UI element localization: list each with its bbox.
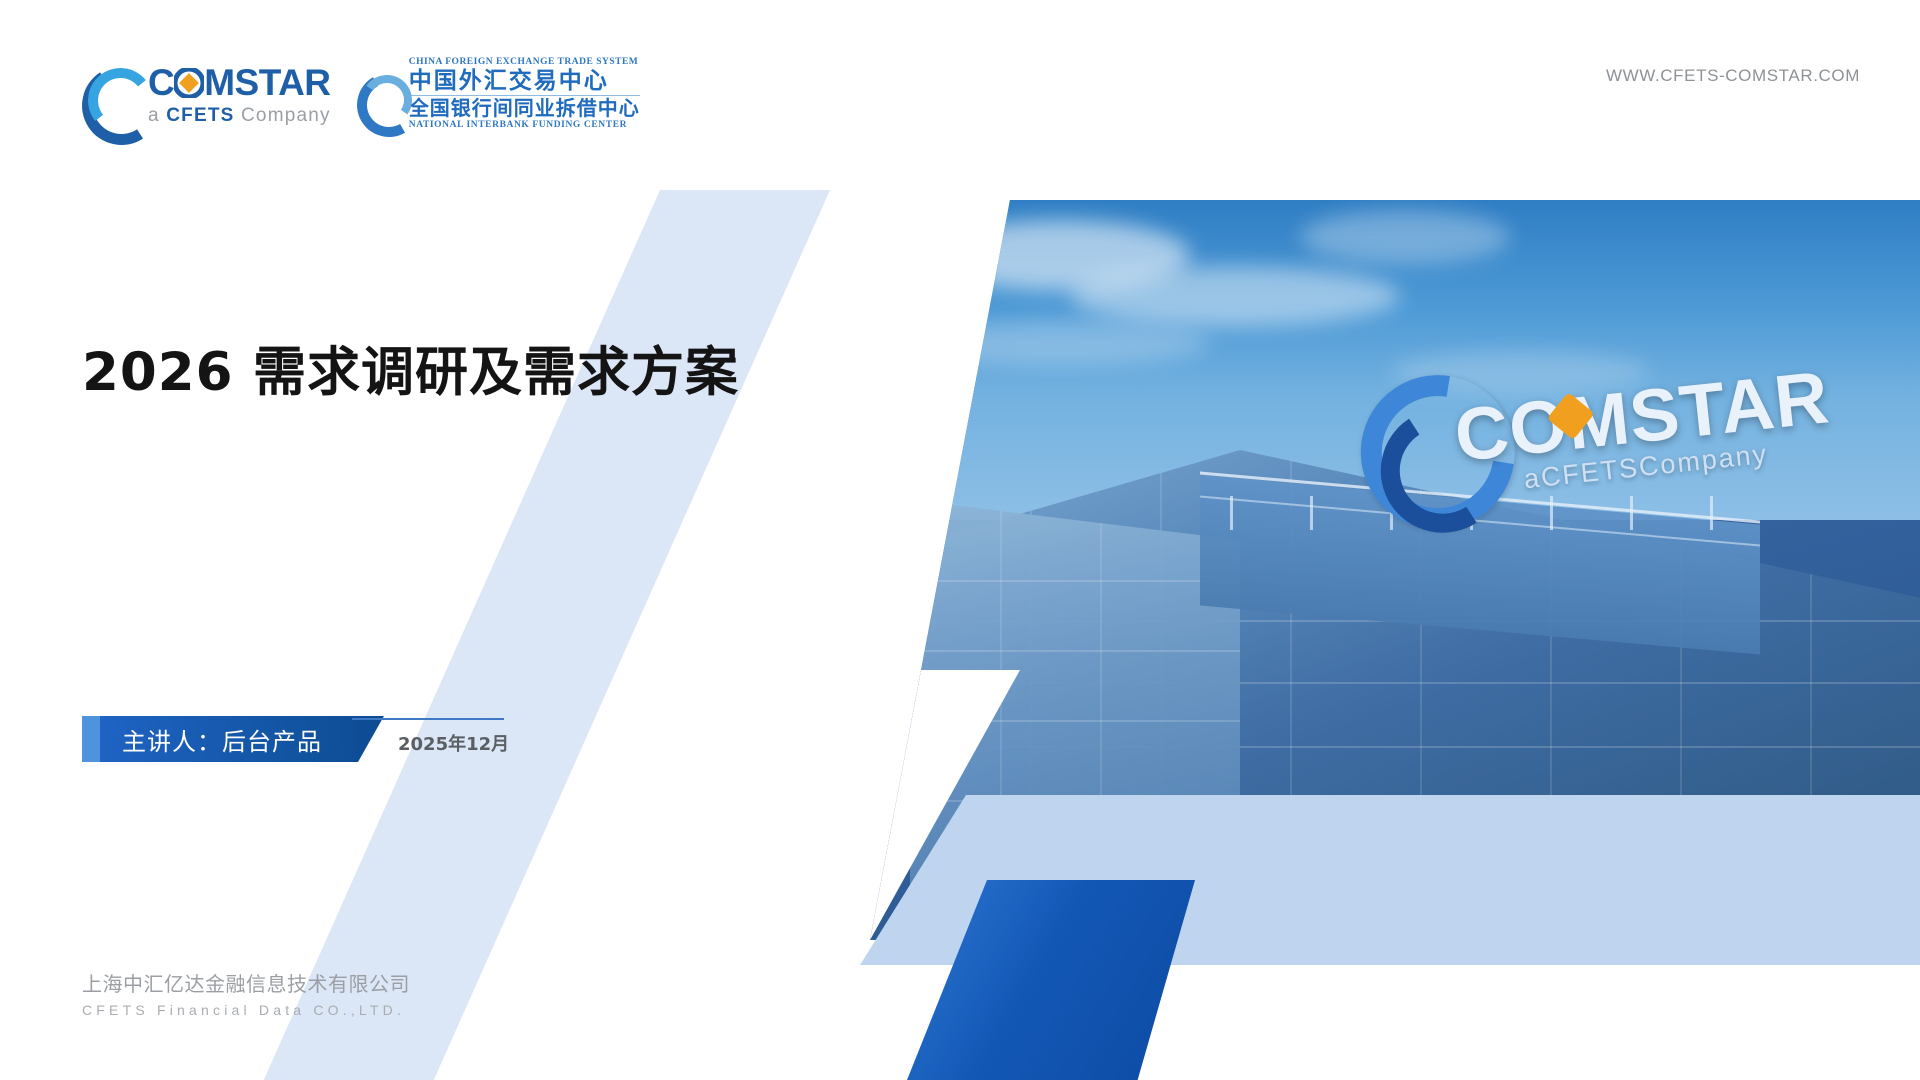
decorative-artwork: COMSTAR aCFETSCompany — [740, 0, 1920, 1080]
cfets-chinese-top: 中国外汇交易中心 — [409, 69, 640, 93]
diagonal-stripe — [250, 190, 830, 1080]
comstar-wordmark: CMSTAR — [148, 64, 331, 101]
comstar-o-diamond-icon — [174, 68, 204, 98]
slide-title: 2026 需求调研及需求方案 — [82, 330, 739, 406]
date-underline — [352, 718, 504, 720]
cfets-chinese-bottom: 全国银行间同业拆借中心 — [409, 98, 640, 119]
comstar-tagline: a CFETS Company — [148, 106, 331, 125]
footer-company-cn: 上海中汇亿达金融信息技术有限公司 — [82, 968, 410, 997]
cfets-english-top: CHINA FOREIGN EXCHANGE TRADE SYSTEM — [409, 58, 640, 68]
cfets-logo: CHINA FOREIGN EXCHANGE TRADE SYSTEM 中国外汇… — [357, 58, 640, 131]
speaker-accent-bar — [82, 716, 100, 762]
logo-group: CMSTAR a CFETS Company CHINA FOREIGN EXC… — [82, 58, 640, 131]
speaker-label: 主讲人：后台产品 — [122, 722, 322, 757]
comstar-logo: CMSTAR a CFETS Company — [82, 64, 331, 125]
speaker-band: 主讲人：后台产品 — [100, 716, 384, 762]
cfets-english-bottom: NATIONAL INTERBANK FUNDING CENTER — [409, 121, 640, 131]
comstar-swoosh-icon — [82, 66, 139, 123]
title-slide: COMSTAR aCFETSCompany CMSTAR a CFETS Com… — [0, 0, 1920, 1080]
presentation-date: 2025年12月 — [398, 730, 509, 756]
footer-company-en: CFETS Financial Data CO.,LTD. — [82, 1002, 410, 1018]
speaker-banner: 主讲人：后台产品 — [82, 716, 384, 762]
cfets-swoosh-icon — [357, 73, 401, 117]
footer: 上海中汇亿达金融信息技术有限公司 CFETS Financial Data CO… — [82, 968, 410, 1018]
website-url[interactable]: WWW.CFETS-COMSTAR.COM — [1606, 66, 1860, 86]
